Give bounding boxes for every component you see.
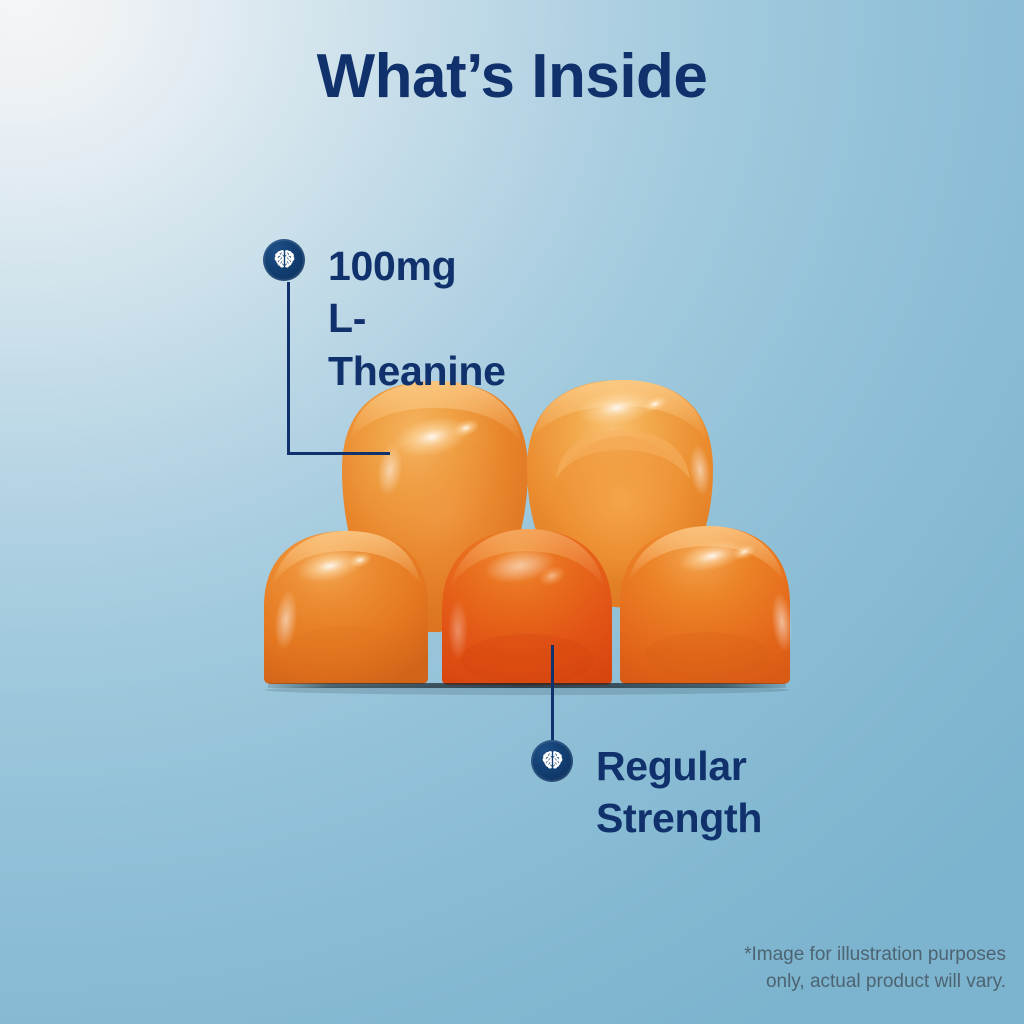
disclaimer-text: *Image for illustration purposes only, a…: [744, 942, 1006, 996]
leader-line-horizontal-theanine: [287, 452, 390, 455]
gummy-top-left: [342, 381, 528, 632]
brain-icon: [272, 248, 297, 273]
callout-text-l-theanine: 100mg L-Theanine: [328, 240, 506, 397]
brain-icon-badge-theanine: [263, 239, 305, 281]
gummy-bottom-center: [442, 529, 612, 686]
callout-text-regular-strength: Regular Strength: [596, 740, 762, 845]
gummy-bottom-right: [620, 526, 795, 684]
brain-icon-badge-strength: [531, 740, 573, 782]
gummy-top-right: [527, 380, 713, 607]
leader-line-vertical-theanine: [287, 282, 290, 455]
brain-icon: [540, 749, 565, 774]
leader-line-regular-strength: [551, 645, 554, 745]
product-image-gummies: [0, 0, 1024, 1024]
gummy-bottom-left: [264, 531, 428, 684]
product-callout-graphic: What’s Inside: [0, 0, 1024, 1024]
page-title: What’s Inside: [0, 44, 1024, 109]
